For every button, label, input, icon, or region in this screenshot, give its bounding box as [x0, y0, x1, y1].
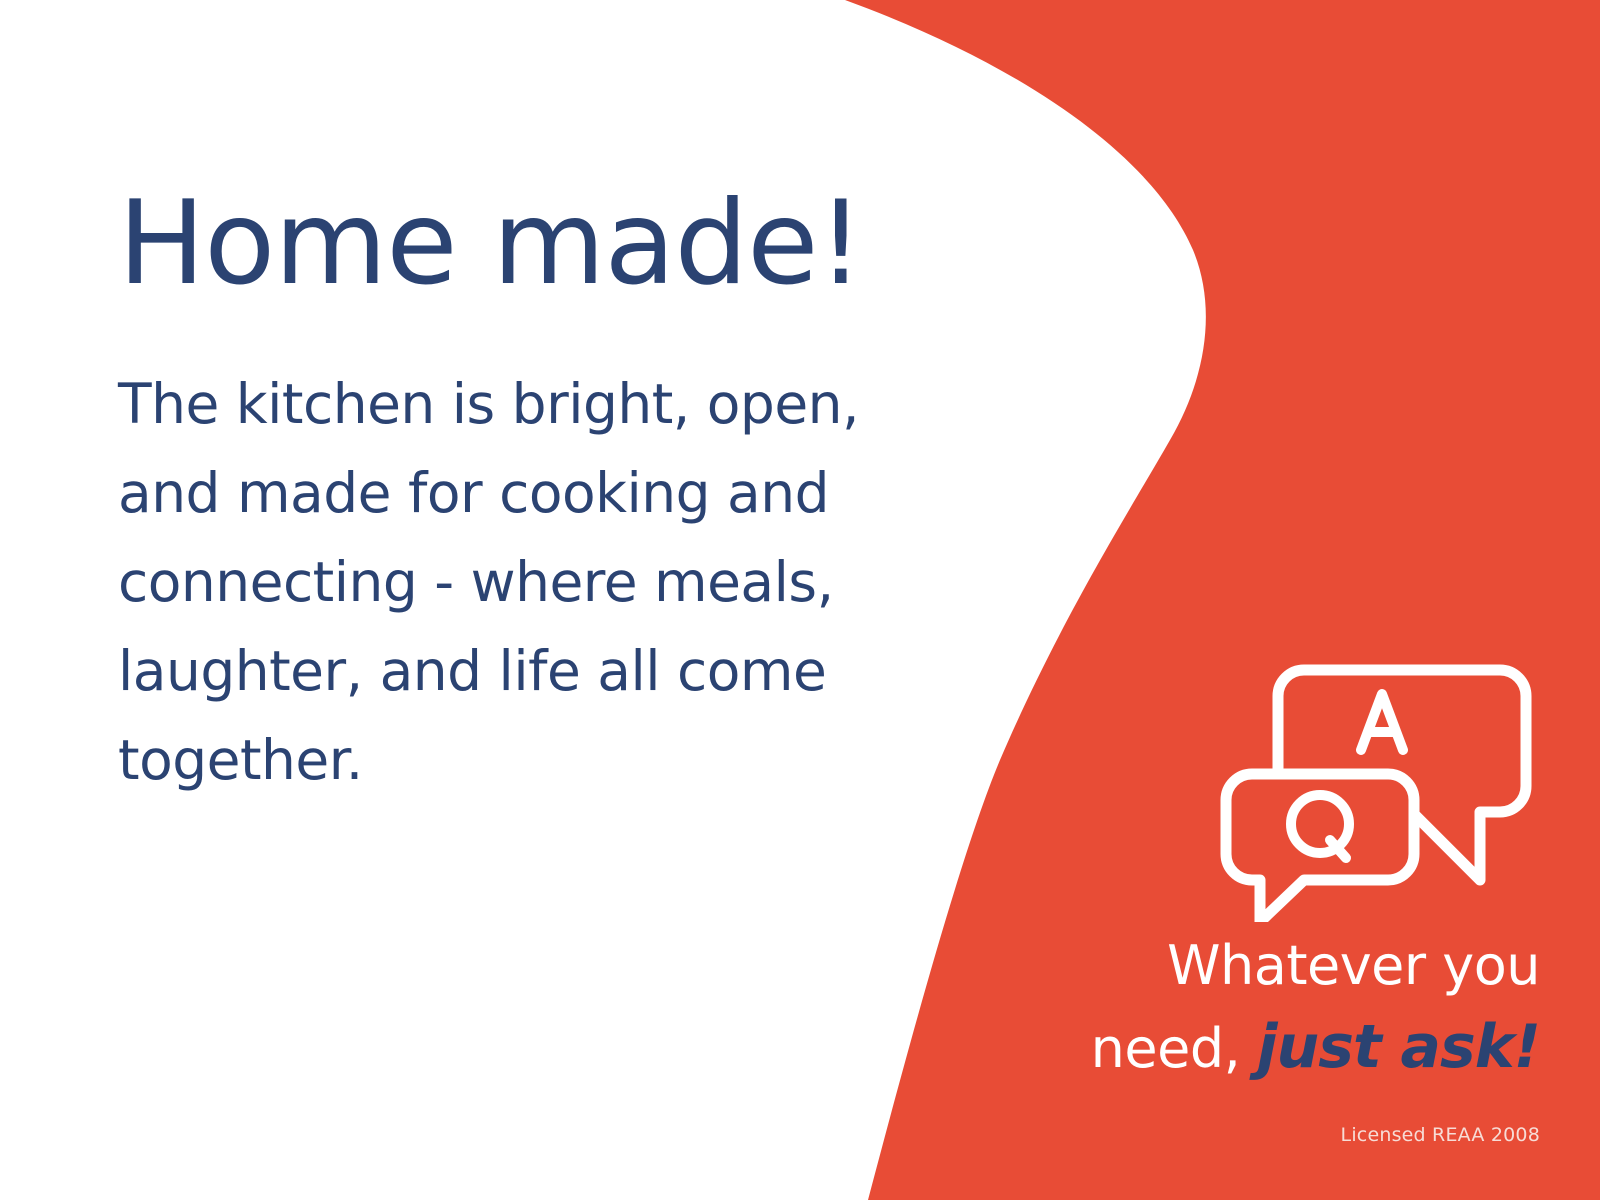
tagline-emphasis-text: just ask! [1257, 1012, 1540, 1082]
tagline-line-2: need, just ask! [1020, 1005, 1540, 1090]
license-text: Licensed REAA 2008 [1040, 1124, 1540, 1146]
body-line: connecting - where meals, [118, 538, 908, 627]
letter-a-glyph [1361, 694, 1403, 750]
body-line: and made for cooking and [118, 449, 908, 538]
page-title: Home made! [118, 186, 908, 302]
qa-speech-bubbles-icon [1218, 632, 1538, 922]
poster-canvas: Home made! The kitchen is bright, open, … [0, 0, 1600, 1200]
tagline-plain-text: need, [1091, 1017, 1241, 1080]
body-line: The kitchen is bright, open, [118, 360, 908, 449]
tagline-line-1: Whatever you [1020, 928, 1540, 1005]
tagline: Whatever you need, just ask! [1020, 928, 1540, 1090]
body-paragraph: The kitchen is bright, open, and made fo… [118, 360, 908, 805]
left-text-block: Home made! The kitchen is bright, open, … [118, 186, 908, 805]
body-line: together. [118, 716, 908, 805]
body-line: laughter, and life all come [118, 627, 908, 716]
